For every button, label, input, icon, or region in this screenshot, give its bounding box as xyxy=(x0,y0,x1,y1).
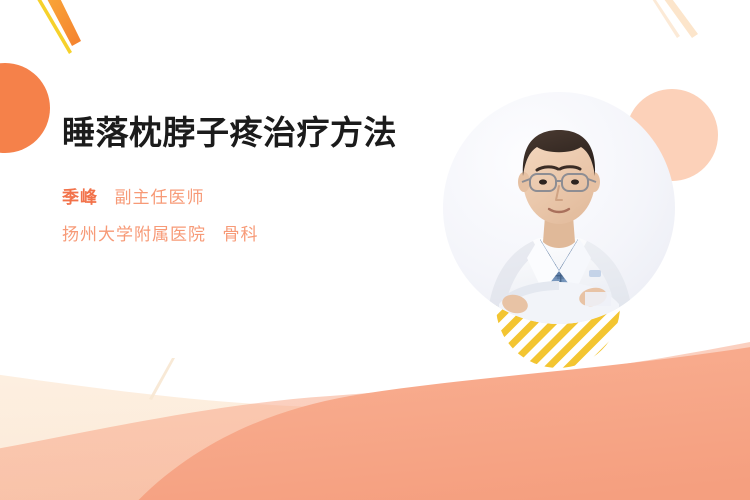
top-left-orange-stripe xyxy=(38,0,81,46)
doctor-hospital: 扬州大学附属医院 xyxy=(62,225,206,244)
bottom-right-salmon-wave-back xyxy=(0,338,750,500)
doctor-title: 副主任医师 xyxy=(114,188,204,207)
bottom-right-salmon-wave xyxy=(120,344,750,500)
page-title: 睡落枕脖子疼治疗方法 xyxy=(62,112,422,153)
text-block: 睡落枕脖子疼治疗方法 季峰 副主任医师 扬州大学附属医院 骨科 xyxy=(62,112,422,245)
bottom-cream-wave xyxy=(0,352,750,500)
top-right-faint-stripe-thin xyxy=(645,0,680,38)
doctor-affiliation-row: 扬州大学附属医院 骨科 xyxy=(62,220,422,245)
doctor-credential-row: 季峰 副主任医师 xyxy=(62,183,422,208)
doctor-department: 骨科 xyxy=(222,225,258,244)
promo-card: 睡落枕脖子疼治疗方法 季峰 副主任医师 扬州大学附属医院 骨科 xyxy=(0,0,750,500)
bottom-left-faint-stripe xyxy=(149,358,175,400)
portrait-photo xyxy=(443,92,675,324)
left-edge-orange-circle xyxy=(0,63,50,153)
top-right-faint-stripe-thick xyxy=(656,0,698,38)
doctor-name: 季峰 xyxy=(62,188,98,207)
top-left-yellow-stripe xyxy=(28,0,72,54)
doctor-portrait xyxy=(443,92,675,324)
